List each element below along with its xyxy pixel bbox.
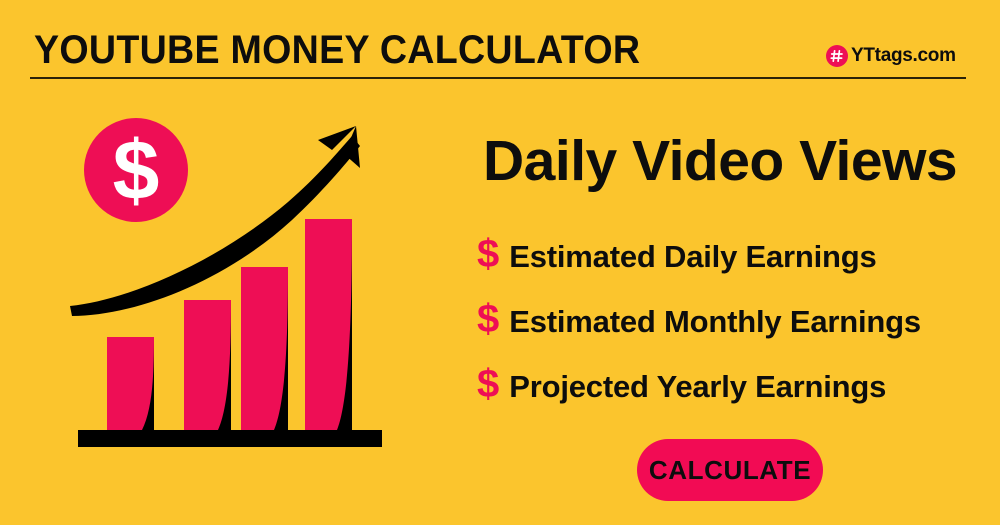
dollar-bullet-icon: $	[477, 299, 499, 339]
benefit-label: Estimated Daily Earnings	[509, 239, 876, 275]
page-title: YOUTUBE MONEY CALCULATOR	[34, 28, 640, 73]
headline: Daily Video Views	[483, 132, 957, 192]
dollar-bullet-icon: $	[477, 364, 499, 404]
benefit-label: Estimated Monthly Earnings	[509, 304, 921, 340]
benefit-label: Projected Yearly Earnings	[509, 369, 886, 405]
dollar-bullet-icon: $	[477, 234, 499, 274]
list-item: $ Projected Yearly Earnings	[477, 364, 997, 429]
calculate-button[interactable]: CALCULATE	[637, 439, 823, 501]
list-item: $ Estimated Monthly Earnings	[477, 299, 997, 364]
dollar-coin-badge: $	[84, 118, 188, 222]
header-divider	[30, 77, 966, 79]
list-item: $ Estimated Daily Earnings	[477, 234, 997, 299]
benefits-list: $ Estimated Daily Earnings $ Estimated M…	[477, 234, 997, 429]
chart-baseline	[78, 430, 382, 447]
hash-icon	[826, 45, 848, 67]
brand-name: YTtags.com	[851, 45, 956, 67]
poster-canvas: YOUTUBE MONEY CALCULATOR YTtags.com	[0, 0, 1000, 525]
brand-logo[interactable]: YTtags.com	[826, 45, 956, 67]
growth-bar-chart-illustration: $	[60, 110, 400, 460]
svg-text:$: $	[113, 123, 160, 217]
